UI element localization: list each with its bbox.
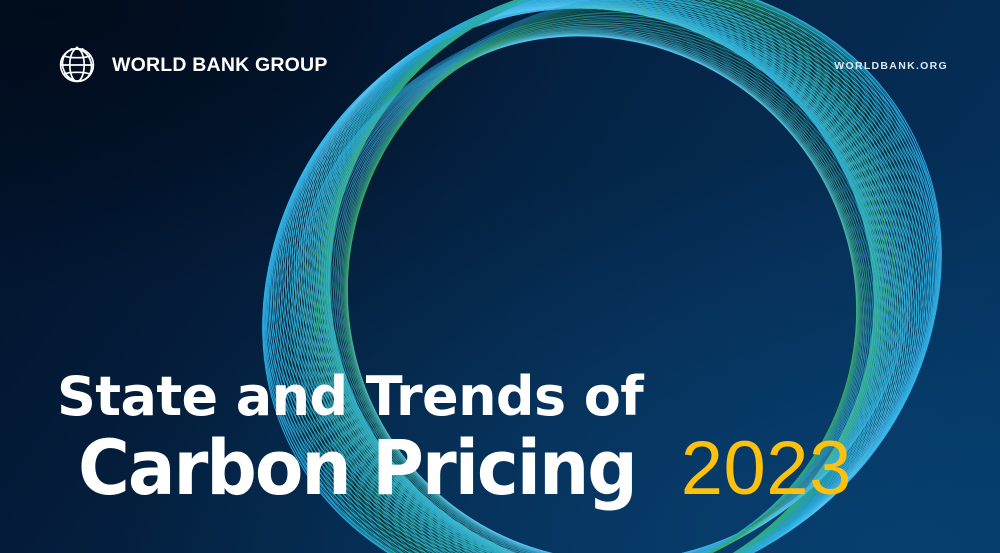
- title-year: 2023: [681, 431, 852, 507]
- world-bank-logo[interactable]: WORLD BANK GROUP: [55, 43, 328, 87]
- title-line-two: Carbon Pricing 2023: [57, 430, 852, 507]
- website-url[interactable]: WORLDBANK.ORG: [834, 60, 948, 72]
- title-main-text: Carbon Pricing: [78, 430, 636, 506]
- page-header: WORLD BANK GROUP WORLDBANK.ORG: [0, 0, 1000, 120]
- world-bank-globe-icon: [55, 43, 99, 87]
- world-bank-logo-text: WORLD BANK GROUP: [112, 54, 328, 77]
- title-line-one: State and Trends of: [57, 370, 852, 424]
- cover-title-block: State and Trends of Carbon Pricing 2023: [57, 370, 852, 507]
- cover-page: WORLD BANK GROUP WORLDBANK.ORG State and…: [0, 0, 1000, 553]
